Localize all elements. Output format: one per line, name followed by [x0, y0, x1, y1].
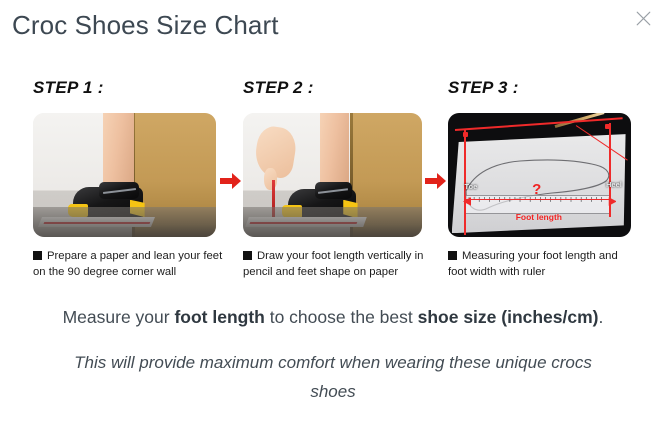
photo3-heel-label: Heel — [606, 180, 622, 189]
step-panel-3: STEP 3 : — [448, 78, 640, 280]
summary-bold-shoe-size: shoe size (inches/cm) — [418, 307, 599, 327]
summary-part-2: to choose the best — [265, 307, 418, 327]
photo3-foot-length-label: Foot length — [516, 212, 562, 222]
close-button[interactable] — [630, 5, 656, 31]
step-caption-1-text: Prepare a paper and lean your feet on th… — [33, 250, 222, 278]
step-caption-3: Measuring your foot length and foot widt… — [448, 248, 638, 280]
step-label-3: STEP 3 : — [448, 78, 640, 100]
step-panel-2: STEP 2 : — [243, 78, 435, 280]
step-caption-1: Prepare a paper and lean your feet on th… — [33, 248, 223, 280]
step-panel-1: STEP 1 : Prepare a paper and lean yo — [33, 78, 225, 280]
size-chart-modal: Croc Shoes Size Chart STEP 1 : — [0, 0, 666, 432]
arrow-right-icon-2 — [425, 172, 447, 190]
step-label-1: STEP 1 : — [33, 78, 225, 100]
photo1-floor-reflection — [33, 207, 216, 237]
close-icon — [636, 11, 651, 26]
step-caption-2: Draw your foot length vertically in penc… — [243, 248, 433, 280]
photo3-toe-label: Toe — [464, 182, 477, 191]
summary-line: Measure your foot length to choose the b… — [0, 305, 666, 329]
step-label-2: STEP 2 : — [243, 78, 435, 100]
summary-bold-foot-length: foot length — [174, 307, 264, 327]
photo3-question-mark: ? — [532, 182, 541, 197]
step-photo-1 — [33, 113, 216, 237]
bullet-square-icon — [243, 251, 252, 260]
summary-part-3: . — [599, 307, 604, 327]
bullet-square-icon — [33, 251, 42, 260]
bullet-square-icon — [448, 251, 457, 260]
step-caption-3-text: Measuring your foot length and foot widt… — [448, 250, 618, 278]
step-caption-2-text: Draw your foot length vertically in penc… — [243, 250, 423, 278]
page-title: Croc Shoes Size Chart — [12, 10, 279, 41]
step-photo-3: Toe Heel ? Foot length — [448, 113, 631, 237]
summary-part-1: Measure your — [63, 307, 175, 327]
steps-row: STEP 1 : Prepare a paper and lean yo — [0, 78, 666, 293]
photo2-floor-reflection — [243, 207, 422, 237]
arrow-right-icon-1 — [220, 172, 242, 190]
step-photo-2 — [243, 113, 422, 237]
comfort-line: This will provide maximum comfort when w… — [50, 348, 616, 406]
